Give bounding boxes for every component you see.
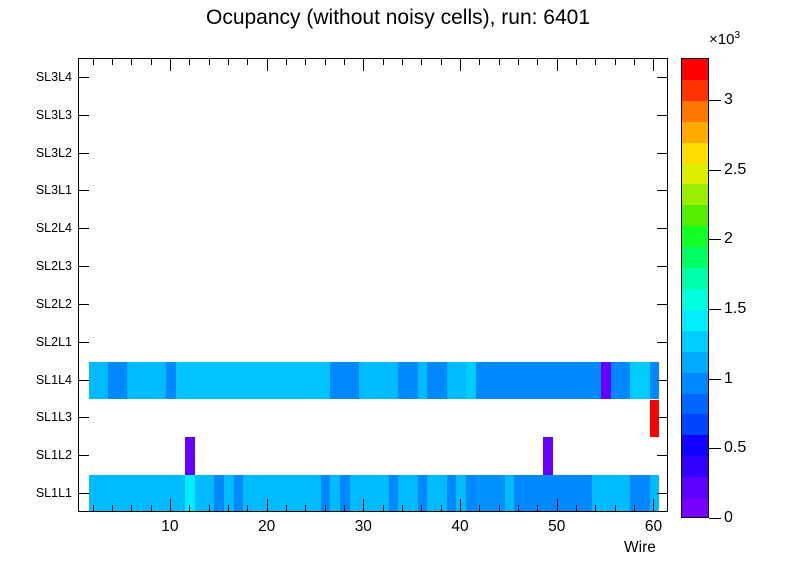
y-axis-tick	[78, 115, 89, 116]
root-canvas: Ocupancy (without noisy cells), run: 640…	[0, 0, 796, 572]
y-axis-tick	[78, 153, 89, 154]
palette-band	[682, 394, 708, 416]
y-axis-tick	[78, 304, 89, 305]
y-axis-label-sl1l3: SL1L3	[36, 410, 72, 424]
palette-band	[682, 352, 708, 374]
x-axis-minor-tick	[325, 58, 326, 65]
x-axis-minor-tick	[305, 58, 306, 65]
x-axis-label-60: 60	[645, 518, 662, 536]
heatmap-cell	[447, 362, 466, 400]
x-axis-minor-tick	[479, 505, 480, 512]
heatmap-cell	[340, 475, 350, 511]
y-axis-tick	[657, 304, 668, 305]
palette-tick	[709, 239, 721, 240]
heatmap-cell	[185, 437, 195, 475]
heatmap-cell	[234, 475, 244, 511]
x-axis-minor-tick	[209, 505, 210, 512]
x-axis-minor-tick	[344, 505, 345, 512]
y-axis-tick	[657, 380, 668, 381]
palette-tick	[709, 379, 721, 380]
y-axis-tick	[657, 228, 668, 229]
heatmap-cell	[398, 362, 417, 400]
x-axis-minor-tick	[131, 58, 132, 65]
x-axis-major-tick	[170, 58, 171, 71]
x-axis-minor-tick	[595, 505, 596, 512]
palette-label-500: 0.5	[724, 439, 746, 457]
palette-band	[682, 331, 708, 353]
palette-band	[682, 226, 708, 248]
palette-band	[682, 184, 708, 206]
heatmap-cell	[427, 475, 446, 511]
palette-band	[682, 247, 708, 269]
x-axis-minor-tick	[499, 58, 500, 65]
x-axis-major-tick	[363, 499, 364, 512]
x-axis-minor-tick	[93, 505, 94, 512]
x-axis-minor-tick	[421, 58, 422, 65]
heatmap-cell	[176, 362, 331, 400]
y-axis-tick	[657, 190, 668, 191]
x-axis-minor-tick	[518, 58, 519, 65]
x-axis-minor-tick	[93, 58, 94, 65]
palette-tick	[709, 518, 721, 519]
palette-band	[682, 310, 708, 332]
x-axis-major-tick	[170, 499, 171, 512]
x-axis-minor-tick	[479, 58, 480, 65]
palette-band	[682, 122, 708, 144]
y-axis-label-sl2l1: SL2L1	[36, 335, 72, 349]
x-axis-minor-tick	[189, 505, 190, 512]
y-axis-label-sl3l3: SL3L3	[36, 108, 72, 122]
x-axis-minor-tick	[634, 58, 635, 65]
x-axis-minor-tick	[151, 505, 152, 512]
x-axis-minor-tick	[576, 58, 577, 65]
heatmap-cell	[476, 362, 602, 400]
x-axis-label-30: 30	[355, 518, 372, 536]
palette-label-2000: 2	[724, 230, 733, 248]
heatmap-cell	[466, 475, 476, 511]
x-axis-minor-tick	[151, 58, 152, 65]
heatmap-cell	[321, 475, 331, 511]
y-axis-tick	[657, 455, 668, 456]
x-axis-major-tick	[460, 58, 461, 71]
palette-multiplier-base: ×10	[709, 31, 734, 48]
heatmap-cell	[505, 475, 515, 511]
palette-band	[682, 477, 708, 499]
x-axis-minor-tick	[383, 505, 384, 512]
y-axis-tick	[78, 380, 89, 381]
x-axis-minor-tick	[286, 58, 287, 65]
x-axis-major-tick	[653, 58, 654, 71]
heatmap-cell	[592, 475, 631, 511]
y-axis-label-sl1l1: SL1L1	[36, 486, 72, 500]
y-axis-tick	[78, 77, 89, 78]
x-axis-minor-tick	[344, 58, 345, 65]
palette-band	[682, 268, 708, 290]
x-axis-major-tick	[557, 58, 558, 71]
heatmap-cell	[427, 362, 446, 400]
heatmap-cell	[89, 475, 186, 511]
heatmap-cell	[447, 475, 457, 511]
x-axis-minor-tick	[421, 505, 422, 512]
palette-band	[682, 498, 708, 518]
y-axis-tick	[78, 455, 89, 456]
y-axis-label-sl1l2: SL1L2	[36, 448, 72, 462]
x-axis-minor-tick	[209, 58, 210, 65]
y-axis-label-sl3l4: SL3L4	[36, 70, 72, 84]
x-axis-minor-tick	[112, 58, 113, 65]
heatmap-cell	[166, 362, 176, 400]
palette-band	[682, 289, 708, 311]
x-axis-label-20: 20	[258, 518, 275, 536]
x-axis-minor-tick	[247, 58, 248, 65]
palette-label-1500: 1.5	[724, 300, 746, 318]
y-axis-tick	[78, 266, 89, 267]
heatmap-cell	[127, 362, 166, 400]
x-axis-major-tick	[267, 499, 268, 512]
x-axis-major-tick	[460, 499, 461, 512]
y-axis-label-sl3l1: SL3L1	[36, 183, 72, 197]
heatmap-cell	[214, 475, 224, 511]
x-axis-minor-tick	[537, 505, 538, 512]
x-axis-label-50: 50	[548, 518, 565, 536]
y-axis-tick	[657, 115, 668, 116]
palette-band	[682, 80, 708, 102]
y-axis-tick	[657, 77, 668, 78]
heatmap-cell	[330, 362, 359, 400]
x-axis-minor-tick	[189, 58, 190, 65]
x-axis-minor-tick	[615, 505, 616, 512]
heatmap-cell	[389, 475, 399, 511]
y-axis-label-sl2l3: SL2L3	[36, 259, 72, 273]
x-axis-minor-tick	[228, 58, 229, 65]
palette-band	[682, 435, 708, 457]
y-axis-label-sl2l4: SL2L4	[36, 221, 72, 235]
heatmap-cell	[418, 362, 428, 400]
palette-label-3000: 3	[724, 91, 733, 109]
x-axis-minor-tick	[402, 58, 403, 65]
y-axis-tick	[657, 342, 668, 343]
x-axis-minor-tick	[615, 58, 616, 65]
palette-label-2500: 2.5	[724, 161, 746, 179]
y-axis-label-sl3l2: SL3L2	[36, 146, 72, 160]
palette-tick	[709, 309, 721, 310]
color-palette-bar	[681, 58, 709, 518]
y-axis-label-sl2l2: SL2L2	[36, 297, 72, 311]
x-axis-minor-tick	[499, 505, 500, 512]
heatmap-cell	[650, 400, 660, 438]
palette-band	[682, 101, 708, 123]
x-axis-minor-tick	[305, 505, 306, 512]
heatmap-cell	[611, 362, 630, 400]
x-axis-minor-tick	[402, 505, 403, 512]
palette-band	[682, 414, 708, 436]
heatmap-cell	[359, 362, 398, 400]
heatmap-cell	[330, 475, 340, 511]
heatmap-cell	[243, 475, 320, 511]
palette-tick	[709, 100, 721, 101]
x-axis-minor-tick	[576, 505, 577, 512]
palette-label-0: 0	[724, 509, 733, 527]
x-axis-minor-tick	[131, 505, 132, 512]
y-axis-tick	[78, 228, 89, 229]
heatmap-cell	[108, 362, 127, 400]
y-axis-tick	[78, 190, 89, 191]
x-axis-minor-tick	[518, 505, 519, 512]
x-axis-minor-tick	[441, 505, 442, 512]
heatmap-cell	[224, 475, 234, 511]
x-axis-major-tick	[363, 58, 364, 71]
x-axis-minor-tick	[228, 505, 229, 512]
palette-label-1000: 1	[724, 370, 733, 388]
x-axis-label-40: 40	[451, 518, 468, 536]
palette-band	[682, 373, 708, 395]
heatmap-cell	[466, 362, 476, 400]
heatmap-cell	[185, 475, 195, 511]
palette-band	[682, 456, 708, 478]
x-axis-label-10: 10	[161, 518, 178, 536]
heatmap-cells	[79, 59, 667, 511]
x-axis-minor-tick	[247, 505, 248, 512]
palette-multiplier-label: ×103	[709, 30, 740, 48]
y-axis-tick	[657, 493, 668, 494]
y-axis-labels: SL1L1SL1L2SL1L3SL1L4SL2L1SL2L2SL2L3SL2L4…	[0, 58, 72, 512]
page-title: Ocupancy (without noisy cells), run: 640…	[0, 6, 796, 30]
y-axis-tick	[78, 493, 89, 494]
heatmap-cell	[543, 437, 553, 475]
heatmap-cell	[514, 475, 591, 511]
palette-band	[682, 164, 708, 186]
heatmap-cell	[601, 362, 611, 400]
x-axis-minor-tick	[441, 58, 442, 65]
x-axis-minor-tick	[383, 58, 384, 65]
y-axis-tick	[657, 417, 668, 418]
x-axis-minor-tick	[112, 505, 113, 512]
x-axis-minor-tick	[286, 505, 287, 512]
palette-tick	[709, 170, 721, 171]
heatmap-cell	[89, 362, 108, 400]
y-axis-tick	[78, 342, 89, 343]
y-axis-tick	[657, 266, 668, 267]
palette-multiplier-exponent: 3	[734, 30, 740, 41]
heatmap-cell	[195, 475, 214, 511]
palette-band	[682, 205, 708, 227]
x-axis-title: Wire	[624, 539, 656, 557]
palette-band	[682, 143, 708, 165]
x-axis-major-tick	[557, 499, 558, 512]
heatmap-cell	[630, 362, 649, 400]
x-axis-major-tick	[267, 58, 268, 71]
y-axis-label-sl1l4: SL1L4	[36, 373, 72, 387]
x-axis-minor-tick	[634, 505, 635, 512]
palette-tick	[709, 448, 721, 449]
x-axis-minor-tick	[595, 58, 596, 65]
x-axis-minor-tick	[325, 505, 326, 512]
palette-band	[682, 59, 708, 81]
y-axis-tick	[78, 417, 89, 418]
y-axis-tick	[657, 153, 668, 154]
x-axis-major-tick	[653, 499, 654, 512]
x-axis-minor-tick	[537, 58, 538, 65]
plot-frame	[78, 58, 668, 512]
